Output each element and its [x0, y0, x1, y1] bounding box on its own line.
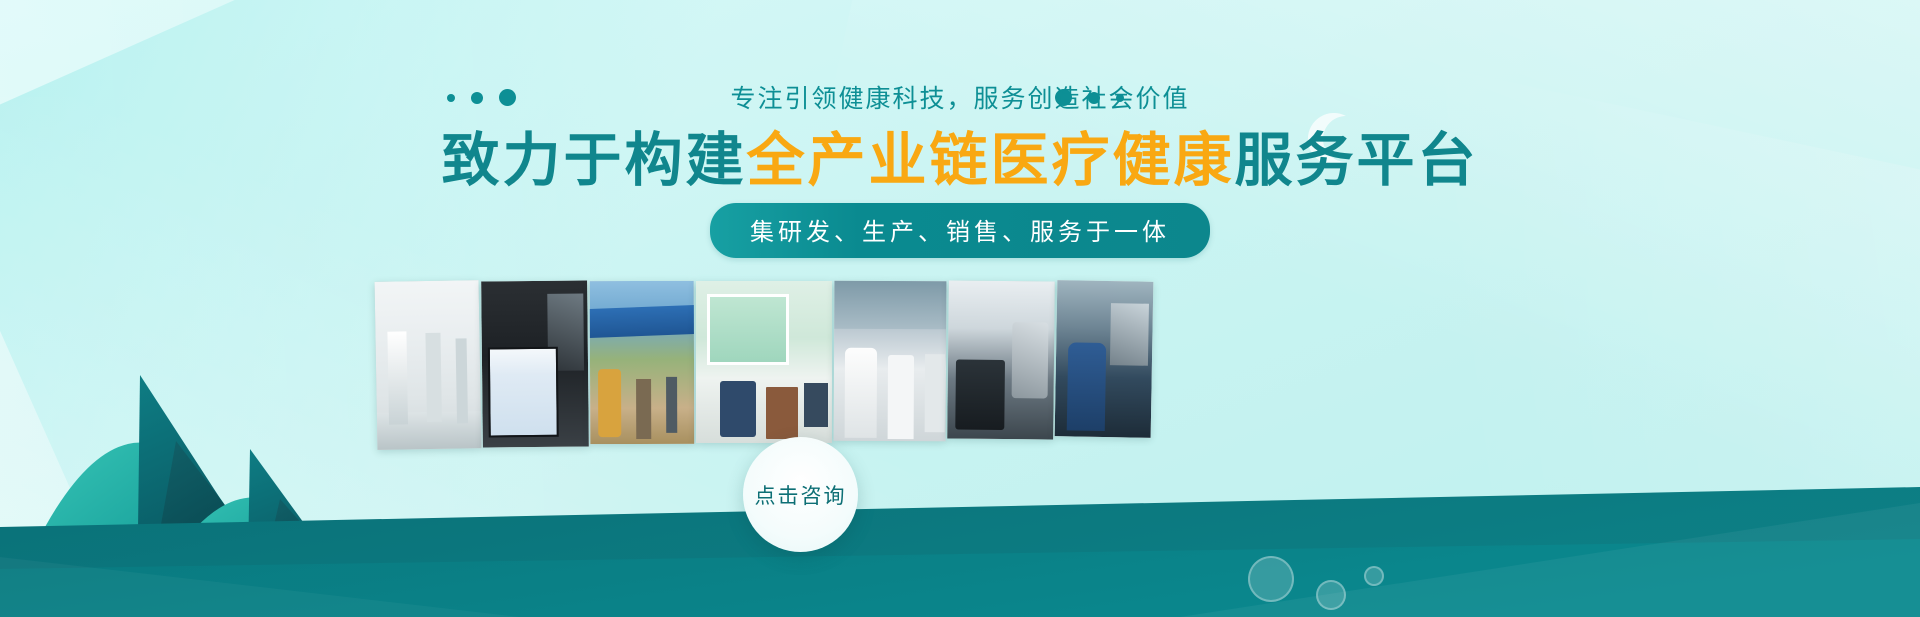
decorative-bubble-2 — [1316, 580, 1346, 610]
photo-doctors-visit — [834, 281, 947, 442]
headline-part-2-highlight: 全产业链医疗健康 — [746, 128, 1234, 193]
photo-worker-assembly — [1055, 280, 1154, 438]
tagline-pill-wrapper: 集研发、生产、销售、服务于一体 — [0, 203, 1920, 258]
consult-button-label: 点击咨询 — [755, 480, 847, 510]
consult-button[interactable]: 点击咨询 — [743, 437, 858, 552]
photo-device-operation — [947, 280, 1055, 439]
tagline-pill: 集研发、生产、销售、服务于一体 — [710, 203, 1210, 258]
photo-monitor-station — [481, 280, 589, 447]
banner-headline: 致力于构建全产业链医疗健康服务平台 — [0, 125, 1920, 197]
health-platform-banner: 专注引领健康科技，服务创造社会价值 致力于构建全产业链医疗健康服务平台 集研发、… — [0, 0, 1920, 617]
banner-subtitle: 专注引领健康科技，服务创造社会价值 — [0, 82, 1920, 116]
headline-part-3: 服务平台 — [1235, 128, 1479, 193]
headline-part-1: 致力于构建 — [441, 128, 746, 193]
photo-outdoor-tent — [590, 281, 695, 444]
decorative-bubble-1 — [1248, 556, 1294, 602]
photo-lab-equipment — [375, 280, 482, 450]
photo-health-kiosk — [696, 281, 832, 443]
decorative-bubble-3 — [1364, 566, 1384, 586]
photo-strip — [376, 281, 1192, 456]
